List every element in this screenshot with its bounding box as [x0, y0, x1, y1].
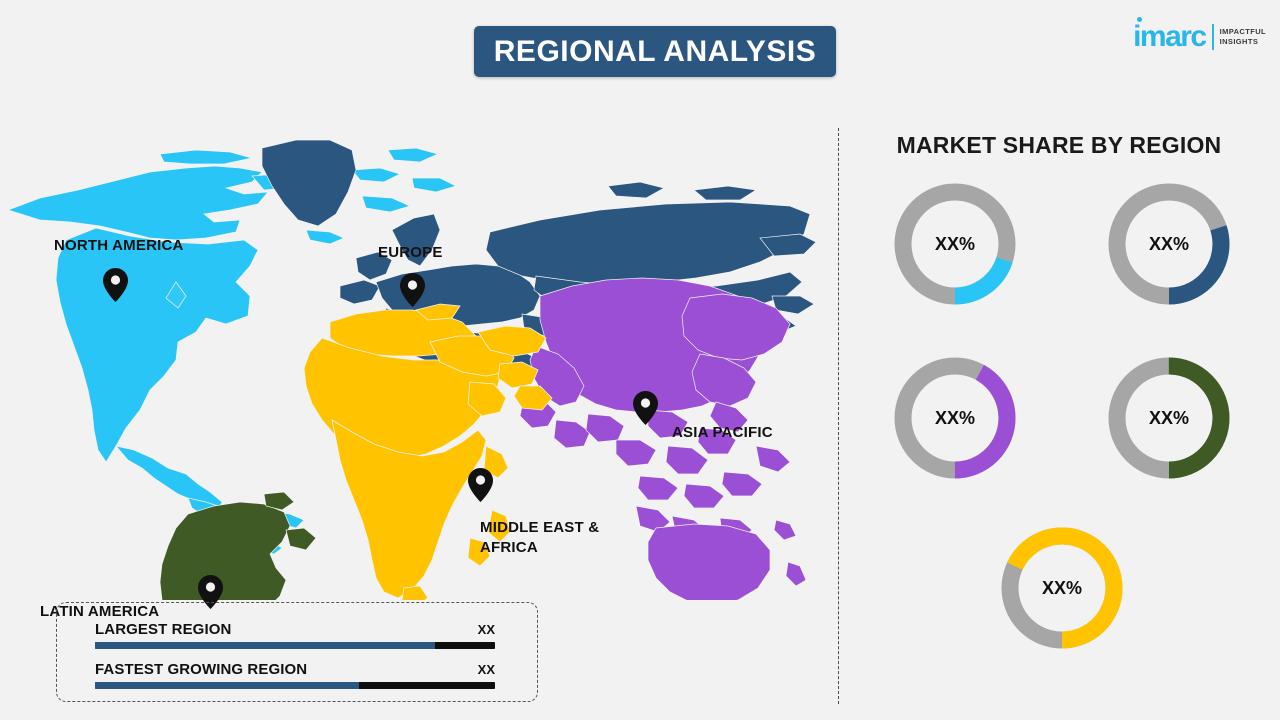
vertical-dashed-divider: [838, 128, 839, 704]
donut-chart-north-america[interactable]: XX%: [891, 180, 1019, 308]
map-label-europe: EUROPE: [378, 243, 443, 263]
map-pin-icon-europe[interactable]: [400, 273, 425, 307]
page-title: REGIONAL ANALYSIS: [494, 35, 816, 69]
logo-word-text: imarc: [1133, 20, 1206, 53]
donut-row-2: XX% XX%: [852, 354, 1272, 482]
region-summary-box: LARGEST REGION XX FASTEST GROWING REGION…: [56, 602, 538, 702]
map-pin-icon-north-america[interactable]: [103, 268, 128, 302]
map-pin-icon-asia-pacific[interactable]: [633, 391, 658, 425]
market-share-donut-grid: XX% XX% XX% XX%: [852, 180, 1272, 652]
legend-progress-fill-fastest: [95, 682, 359, 689]
legend-progress-fill-largest: [95, 642, 435, 649]
legend-row-largest-region: LARGEST REGION XX: [95, 621, 495, 649]
donut-row-1: XX% XX%: [852, 180, 1272, 308]
donut-value-asia-pacific: XX%: [891, 354, 1019, 482]
donut-chart-europe[interactable]: XX%: [1105, 180, 1233, 308]
legend-row-fastest-growing-region: FASTEST GROWING REGION XX: [95, 661, 495, 689]
donut-value-latin-america: XX%: [1105, 354, 1233, 482]
logo-wordmark: imarc: [1133, 22, 1206, 52]
donut-value-europe: XX%: [1105, 180, 1233, 308]
page-title-banner: REGIONAL ANALYSIS: [474, 26, 836, 77]
logo-tagline-line1: IMPACTFUL: [1220, 27, 1266, 37]
donut-chart-middle-east-africa[interactable]: XX%: [998, 524, 1126, 652]
legend-progress-track-fastest: [95, 682, 495, 689]
logo-divider-bar: [1212, 24, 1214, 50]
map-pin-icon-middle-east-africa[interactable]: [468, 468, 493, 502]
legend-progress-track-largest: [95, 642, 495, 649]
imarc-logo: imarc IMPACTFUL INSIGHTS: [1133, 22, 1266, 52]
donut-chart-asia-pacific[interactable]: XX%: [891, 354, 1019, 482]
logo-tagline-line2: INSIGHTS: [1220, 37, 1266, 47]
donut-value-north-america: XX%: [891, 180, 1019, 308]
map-label-asia-pacific: ASIA PACIFIC: [672, 423, 773, 443]
map-label-north-america: NORTH AMERICA: [54, 236, 184, 256]
donut-chart-latin-america[interactable]: XX%: [1105, 354, 1233, 482]
world-map-svg: [0, 110, 820, 600]
donut-value-middle-east-africa: XX%: [998, 524, 1126, 652]
market-share-title: MARKET SHARE BY REGION: [838, 132, 1280, 159]
map-region-greenland: [262, 140, 356, 226]
donut-row-3: XX%: [852, 524, 1272, 652]
logo-tagline: IMPACTFUL INSIGHTS: [1220, 27, 1266, 47]
map-label-middle-east-africa: MIDDLE EAST & AFRICA: [480, 518, 630, 558]
world-map-panel: NORTH AMERICA EUROPE ASIA PACIFIC MIDDLE…: [0, 110, 820, 600]
legend-label-largest-region: LARGEST REGION: [95, 621, 231, 638]
legend-value-largest-region: XX: [478, 622, 495, 637]
map-region-latin-america[interactable]: [160, 492, 316, 600]
legend-value-fastest-growing-region: XX: [478, 662, 495, 677]
legend-label-fastest-growing-region: FASTEST GROWING REGION: [95, 661, 307, 678]
